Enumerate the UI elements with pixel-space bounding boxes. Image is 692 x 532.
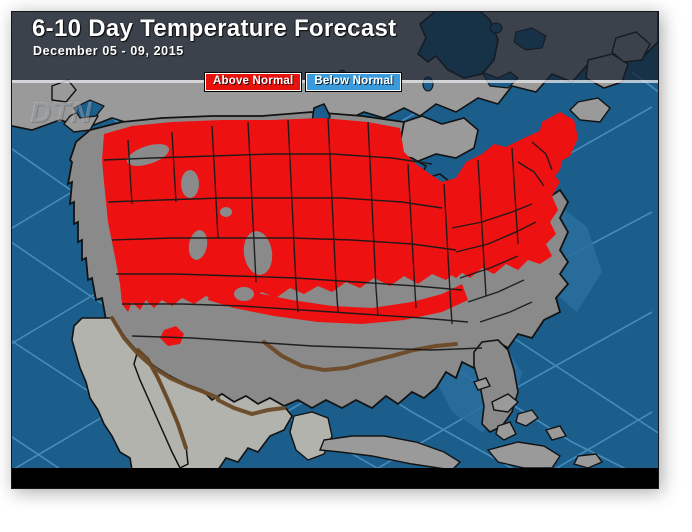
legend-item-below-normal[interactable]: Below Normal <box>305 72 402 92</box>
screenshot-root: DTN 6-10 Day Temperature Forecast Decemb… <box>0 0 692 532</box>
dtn-watermark: DTN <box>30 97 93 130</box>
legend-item-above-normal[interactable]: Above Normal <box>204 72 302 92</box>
forecast-graphic-frame: DTN 6-10 Day Temperature Forecast Decemb… <box>11 11 659 489</box>
page-title: 6-10 Day Temperature Forecast <box>32 15 396 43</box>
legend-label-below-normal: Below Normal <box>306 73 401 91</box>
legend-label-above-normal: Above Normal <box>205 73 301 91</box>
map-legend: Above Normal Below Normal <box>204 72 402 92</box>
map-bottom-bar <box>12 468 658 488</box>
hole-n-plains <box>234 287 254 301</box>
forecast-date-range: December 05 - 09, 2015 <box>33 44 184 58</box>
hole-idaho <box>181 170 199 198</box>
hole-wyoming-small <box>220 207 232 217</box>
